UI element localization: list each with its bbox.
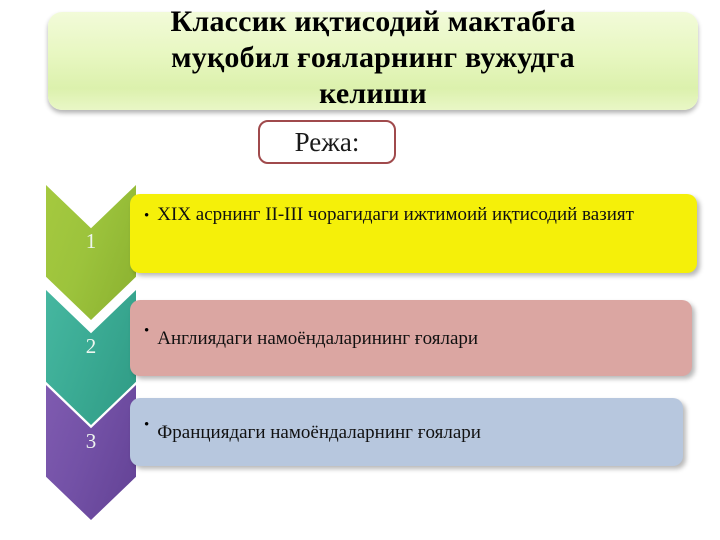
content-box-1: • XIX асрнинг II-III чорагидаги ижтимоий…: [130, 194, 697, 273]
content-text-3: Франциядаги намоёндаларнинг ғоялари: [157, 420, 481, 445]
content-box-2: • Англиядаги намоёндаларининг ғоялари: [130, 300, 692, 376]
content-text-1: XIX асрнинг II-III чорагидаги ижтимоий и…: [157, 202, 634, 227]
content-box-2-inner: • Англиядаги намоёндаларининг ғоялари: [130, 300, 692, 376]
bullet-icon: •: [144, 324, 149, 339]
chevron-number-3: 3: [46, 429, 136, 454]
chevron-number-2: 2: [46, 334, 136, 359]
slide-canvas: Классик иқтисодий мактабга муқобил ғояла…: [0, 0, 720, 540]
content-box-1-inner: • XIX асрнинг II-III чорагидаги ижтимоий…: [130, 194, 697, 273]
content-box-3: • Франциядаги намоёндаларнинг ғоялари: [130, 398, 683, 466]
bullet-icon: •: [144, 418, 149, 433]
plan-label: Режа:: [258, 122, 396, 166]
page-title: Классик иқтисодий мактабга муқобил ғояла…: [48, 4, 698, 112]
content-text-2: Англиядаги намоёндаларининг ғоялари: [157, 326, 478, 351]
bullet-icon: •: [144, 209, 149, 224]
chevron-number-1: 1: [46, 229, 136, 254]
content-box-3-inner: • Франциядаги намоёндаларнинг ғоялари: [130, 398, 683, 466]
